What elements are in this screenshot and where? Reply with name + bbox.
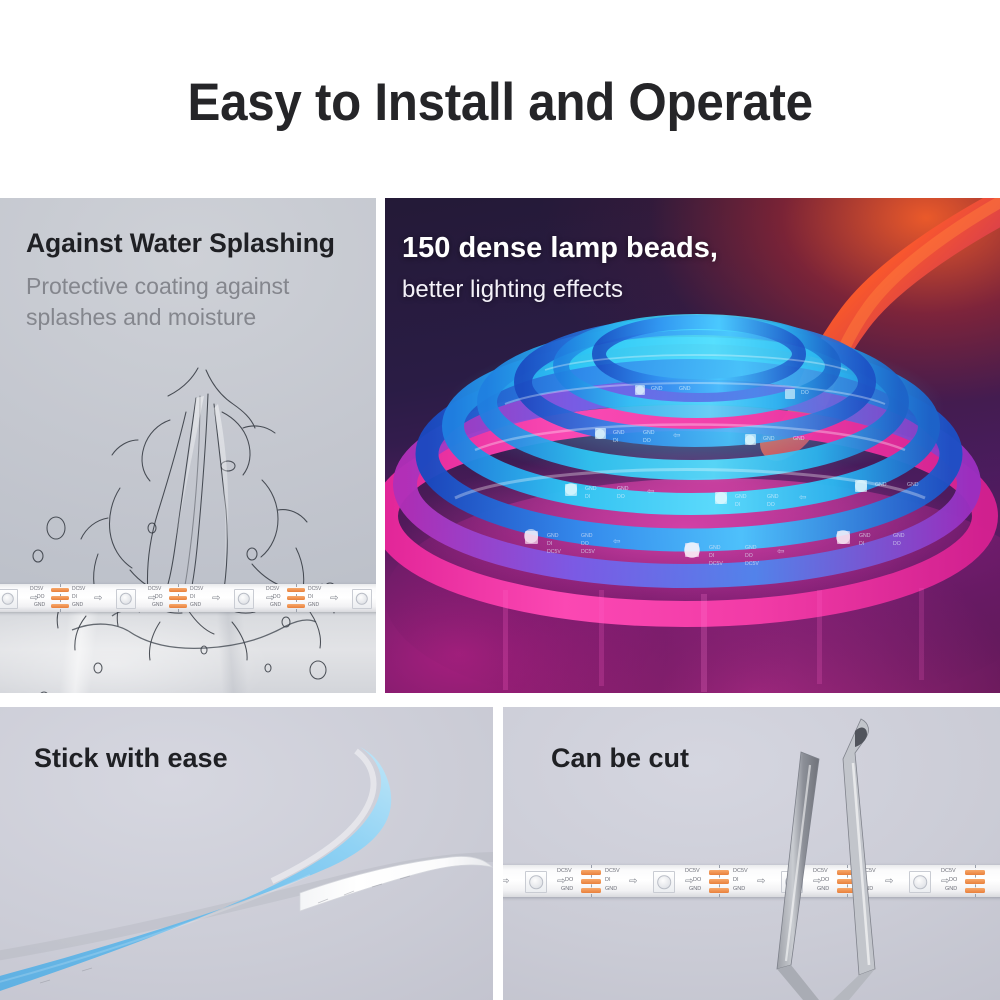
svg-text:GND: GND — [617, 486, 629, 492]
panel-cut-text: Can be cut — [551, 743, 689, 774]
led-chip — [116, 589, 136, 609]
led-chip — [352, 589, 372, 609]
panel-cut-heading: Can be cut — [551, 743, 689, 774]
svg-text:GND: GND — [763, 436, 775, 442]
svg-text:DI: DI — [613, 438, 618, 444]
panel-beads-text: 150 dense lamp beads, better lighting ef… — [402, 232, 718, 304]
pad-label-dc5v: DC5V — [266, 587, 279, 592]
pad-label-gnd: GND — [270, 603, 281, 608]
svg-text:⇦: ⇦ — [799, 492, 807, 502]
panel-beads-subtitle: better lighting effects — [402, 276, 718, 304]
led-chip — [234, 589, 254, 609]
svg-text:DC5V: DC5V — [581, 549, 595, 555]
solder-pad — [51, 596, 69, 600]
pad-label-dc5v: DC5V — [308, 587, 321, 592]
solder-pad — [51, 604, 69, 608]
svg-text:GND: GND — [893, 533, 905, 539]
svg-text:DO: DO — [893, 541, 901, 547]
led-strip-panel-water: ⇨ DC5V DC5V DO DI GND GND ⇨ ⇨ DC5V DC5V … — [0, 584, 376, 612]
solder-pad — [287, 596, 305, 600]
panel-water-subtitle-line1: Protective coating against — [26, 271, 335, 302]
pad-label-do: DO — [37, 595, 45, 600]
panel-water-text: Against Water Splashing Protective coati… — [26, 228, 335, 333]
svg-text:GND: GND — [745, 545, 757, 551]
solder-pad — [169, 588, 187, 592]
svg-text:DI: DI — [547, 541, 552, 547]
pad-label-dc5v: DC5V — [72, 587, 85, 592]
svg-text:GND: GND — [679, 386, 691, 392]
svg-text:GND: GND — [859, 533, 871, 539]
panel-water-subtitle-line2: splashes and moisture — [26, 302, 335, 333]
svg-text:GND: GND — [907, 482, 919, 488]
pad-label-gnd: GND — [190, 603, 201, 608]
panel-stick-with-ease: Stick with ease — [0, 707, 493, 1000]
panel-water-heading: Against Water Splashing — [26, 228, 335, 259]
panel-stick-text: Stick with ease — [34, 743, 228, 774]
svg-text:DO: DO — [801, 390, 809, 396]
panel-dense-lamp-beads: GNDGND DIDO DC5VDC5V GNDGND DIDO DC5VDC5… — [385, 198, 1000, 693]
svg-text:DO: DO — [745, 553, 753, 559]
panel-can-be-cut: ⇨ ⇨ DC5V DC5V DO DI GND GND ⇨ ⇨ DC5V DC5… — [503, 707, 1000, 1000]
svg-text:DC5V: DC5V — [547, 549, 561, 555]
svg-text:⇦: ⇦ — [613, 536, 621, 546]
data-direction-arrow: ⇨ — [94, 594, 102, 604]
svg-text:GND: GND — [547, 533, 559, 539]
svg-text:DO: DO — [767, 502, 775, 508]
svg-text:GND: GND — [875, 482, 887, 488]
svg-text:⇦: ⇦ — [647, 486, 655, 496]
svg-text:GND: GND — [651, 386, 663, 392]
svg-text:DC5V: DC5V — [745, 561, 759, 567]
pad-label-di: DI — [72, 595, 77, 600]
svg-text:GND: GND — [709, 545, 721, 551]
header: Easy to Install and Operate — [0, 0, 1000, 198]
pad-label-gnd: GND — [72, 603, 83, 608]
svg-text:GND: GND — [643, 430, 655, 436]
svg-text:GND: GND — [613, 430, 625, 436]
solder-pad — [169, 604, 187, 608]
svg-text:DO: DO — [643, 438, 651, 444]
svg-text:DO: DO — [581, 541, 589, 547]
led-chip — [0, 589, 18, 609]
svg-text:DI: DI — [585, 494, 590, 500]
pad-label-gnd: GND — [152, 603, 163, 608]
pad-label-do: DO — [273, 595, 281, 600]
data-direction-arrow: ⇨ — [330, 594, 338, 604]
pad-label-do: DO — [155, 595, 163, 600]
svg-text:DO: DO — [617, 494, 625, 500]
pad-label-dc5v: DC5V — [30, 587, 43, 592]
svg-text:GND: GND — [767, 494, 779, 500]
pad-label-gnd: GND — [308, 603, 319, 608]
pad-label-di: DI — [308, 595, 313, 600]
page-title: Easy to Install and Operate — [187, 72, 812, 133]
solder-pad — [287, 604, 305, 608]
svg-text:⇦: ⇦ — [673, 430, 681, 440]
panel-stick-heading: Stick with ease — [34, 743, 228, 774]
product-infographic: Easy to Install and Operate — [0, 0, 1000, 1000]
svg-text:⇦: ⇦ — [777, 546, 785, 556]
pad-label-gnd: GND — [34, 603, 45, 608]
svg-text:GND: GND — [581, 533, 593, 539]
pad-label-dc5v: DC5V — [190, 587, 203, 592]
panel-against-water-splashing: ⇨ DC5V DC5V DO DI GND GND ⇨ ⇨ DC5V DC5V … — [0, 198, 376, 693]
panel-beads-heading: 150 dense lamp beads, — [402, 232, 718, 265]
solder-pad — [287, 588, 305, 592]
svg-text:GND: GND — [585, 486, 597, 492]
pad-label-di: DI — [190, 595, 195, 600]
pad-label-dc5v: DC5V — [148, 587, 161, 592]
svg-text:DC5V: DC5V — [709, 561, 723, 567]
svg-text:DI: DI — [859, 541, 864, 547]
solder-pad — [51, 588, 69, 592]
solder-pad — [169, 596, 187, 600]
svg-text:GND: GND — [793, 436, 805, 442]
svg-text:DI: DI — [709, 553, 714, 559]
svg-text:DI: DI — [735, 502, 740, 508]
data-direction-arrow: ⇨ — [212, 594, 220, 604]
svg-text:GND: GND — [735, 494, 747, 500]
